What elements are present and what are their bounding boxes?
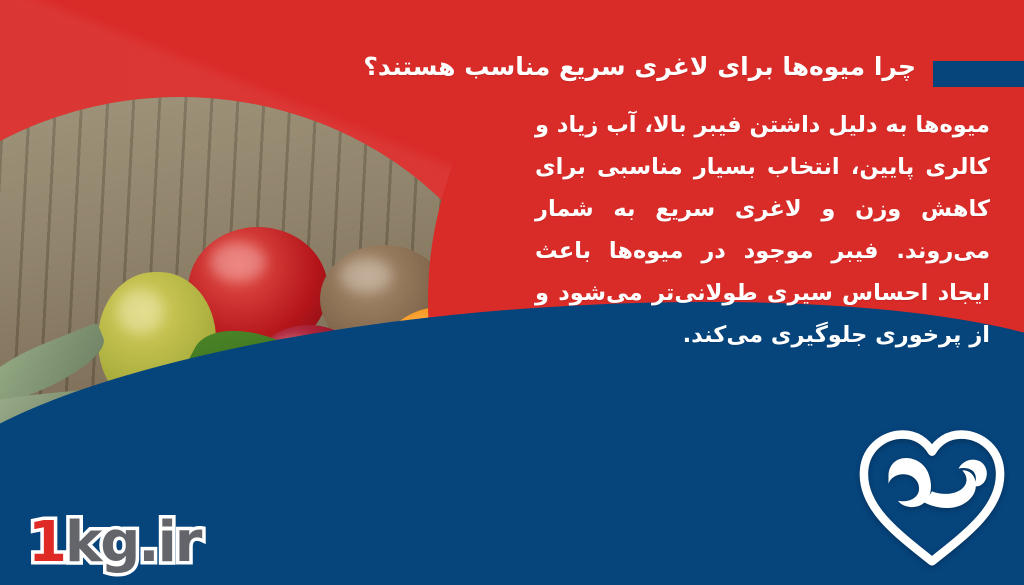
promo-banner: چرا میوه‌ها برای لاغری سریع مناسب هستند؟…	[0, 0, 1024, 585]
headline-accent-bar	[933, 61, 1024, 87]
heart-bicep-icon	[856, 427, 1008, 567]
logo-text-rest: kg.ir	[65, 510, 200, 575]
bicep-upper-arm	[888, 458, 930, 507]
logo-text-one: 1	[28, 510, 65, 575]
page-title: چرا میوه‌ها برای لاغری سریع مناسب هستند؟	[363, 44, 916, 90]
body-paragraph-text: میوه‌ها به دلیل داشتن فیبر بالا، آب زیاد…	[535, 104, 990, 356]
site-logo[interactable]: 1kg.ir	[28, 515, 200, 571]
bicep-forearm	[924, 470, 975, 508]
headline-row: چرا میوه‌ها برای لاغری سریع مناسب هستند؟	[0, 44, 1024, 90]
body-paragraph: میوه‌ها به دلیل داشتن فیبر بالا، آب زیاد…	[535, 104, 990, 356]
